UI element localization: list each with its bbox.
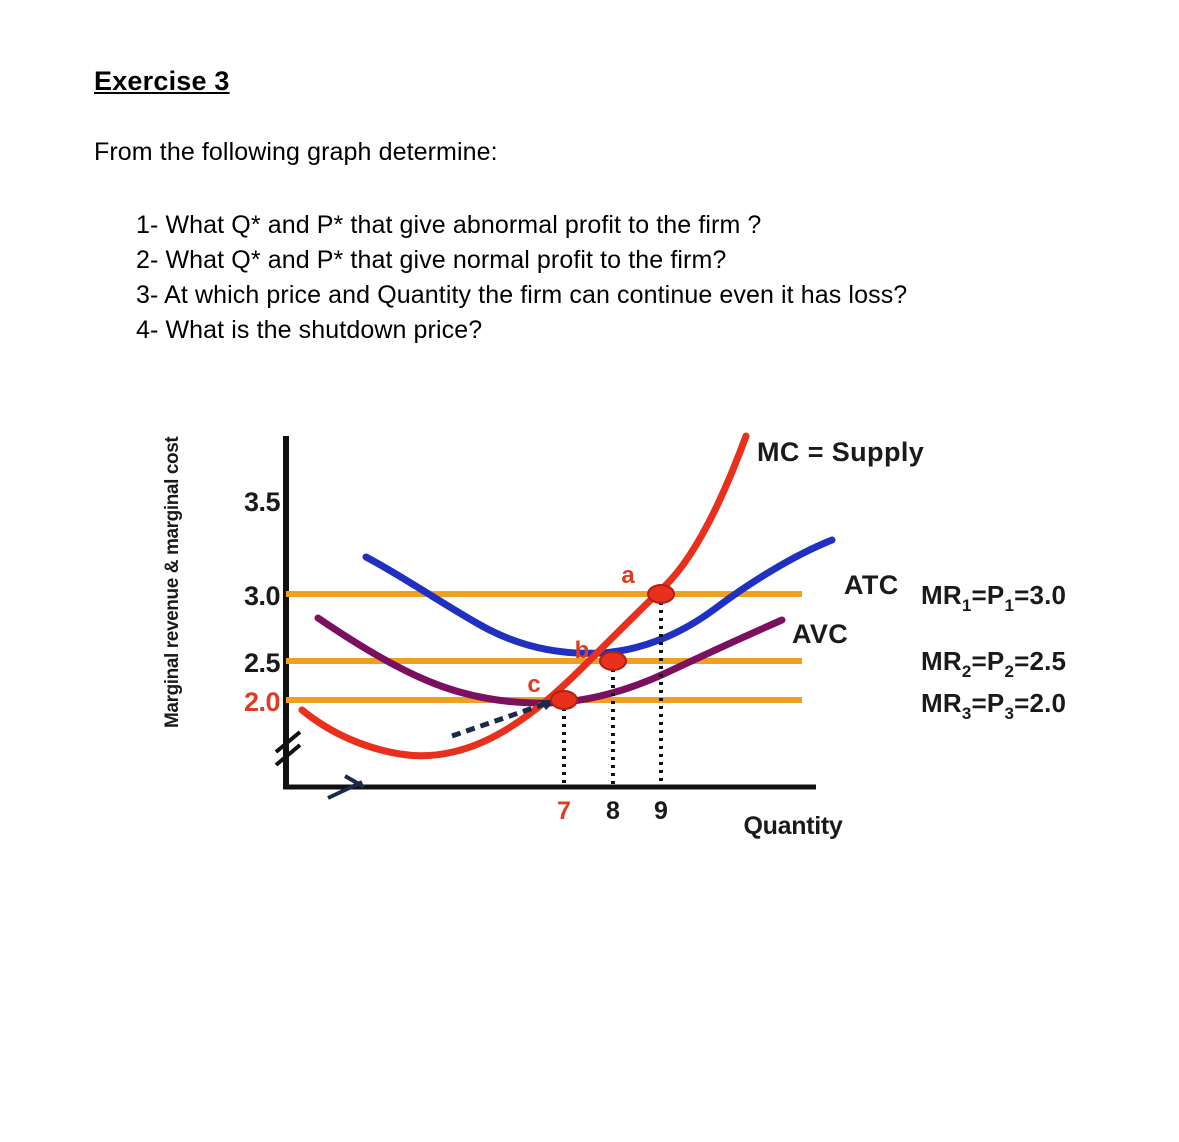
svg-text:MR3=P3=2.0: MR3=P3=2.0	[921, 688, 1066, 723]
point-label-b: b	[575, 637, 590, 664]
point-label-a: a	[621, 562, 635, 589]
legend-mr1-base: MR	[921, 580, 962, 610]
legend-mr2-mid: =P	[972, 646, 1005, 676]
series-label-atc: ATC	[844, 570, 899, 600]
legend-mr2-sub2: 2	[1004, 662, 1014, 681]
legend-mr1-tail: =3.0	[1014, 580, 1066, 610]
svg-text:MR2=P2=2.5: MR2=P2=2.5	[921, 646, 1066, 681]
point-marker-a	[648, 585, 674, 603]
y-tick-label-3-0: 3.0	[244, 581, 280, 611]
legend-mr1-sub2: 1	[1004, 596, 1014, 615]
point-marker-b	[600, 652, 626, 670]
cost-curves-chart: Marginal revenue & marginal cost	[0, 0, 1179, 1142]
legend-mr2: MR2=P2=2.5	[921, 646, 1066, 681]
y-tick-label-2-5: 2.5	[244, 648, 281, 678]
x-axis-title: Quantity	[744, 812, 843, 840]
y-tick-label-2-0: 2.0	[244, 687, 280, 717]
legend-mr3: MR3=P3=2.0	[921, 688, 1066, 723]
y-axis-title: Marginal revenue & marginal cost	[162, 436, 183, 728]
legend-mr2-base: MR	[921, 646, 962, 676]
legend-mr3-mid: =P	[972, 688, 1005, 718]
y-tick-label-3-5: 3.5	[244, 487, 281, 517]
point-marker-c	[551, 691, 577, 709]
legend-mr3-sub1: 3	[962, 704, 972, 723]
svg-text:MR1=P1=3.0: MR1=P1=3.0	[921, 580, 1066, 615]
x-tick-label-9: 9	[654, 797, 668, 825]
legend-mr2-tail: =2.5	[1014, 646, 1066, 676]
legend-mr1: MR1=P1=3.0	[921, 580, 1066, 615]
legend-mr3-sub2: 3	[1004, 704, 1014, 723]
point-label-c: c	[527, 671, 540, 698]
series-label-mc: MC = Supply	[757, 437, 924, 467]
x-tick-label-7: 7	[557, 797, 571, 825]
legend-mr3-tail: =2.0	[1014, 688, 1066, 718]
x-tick-label-8: 8	[606, 797, 620, 825]
series-label-avc: AVC	[792, 619, 848, 649]
legend-mr3-base: MR	[921, 688, 962, 718]
legend-mr1-mid: =P	[972, 580, 1005, 610]
y-axis-title-text: Marginal revenue & marginal cost	[162, 436, 183, 728]
legend-mr2-sub1: 2	[962, 662, 972, 681]
legend-mr1-sub1: 1	[962, 596, 972, 615]
